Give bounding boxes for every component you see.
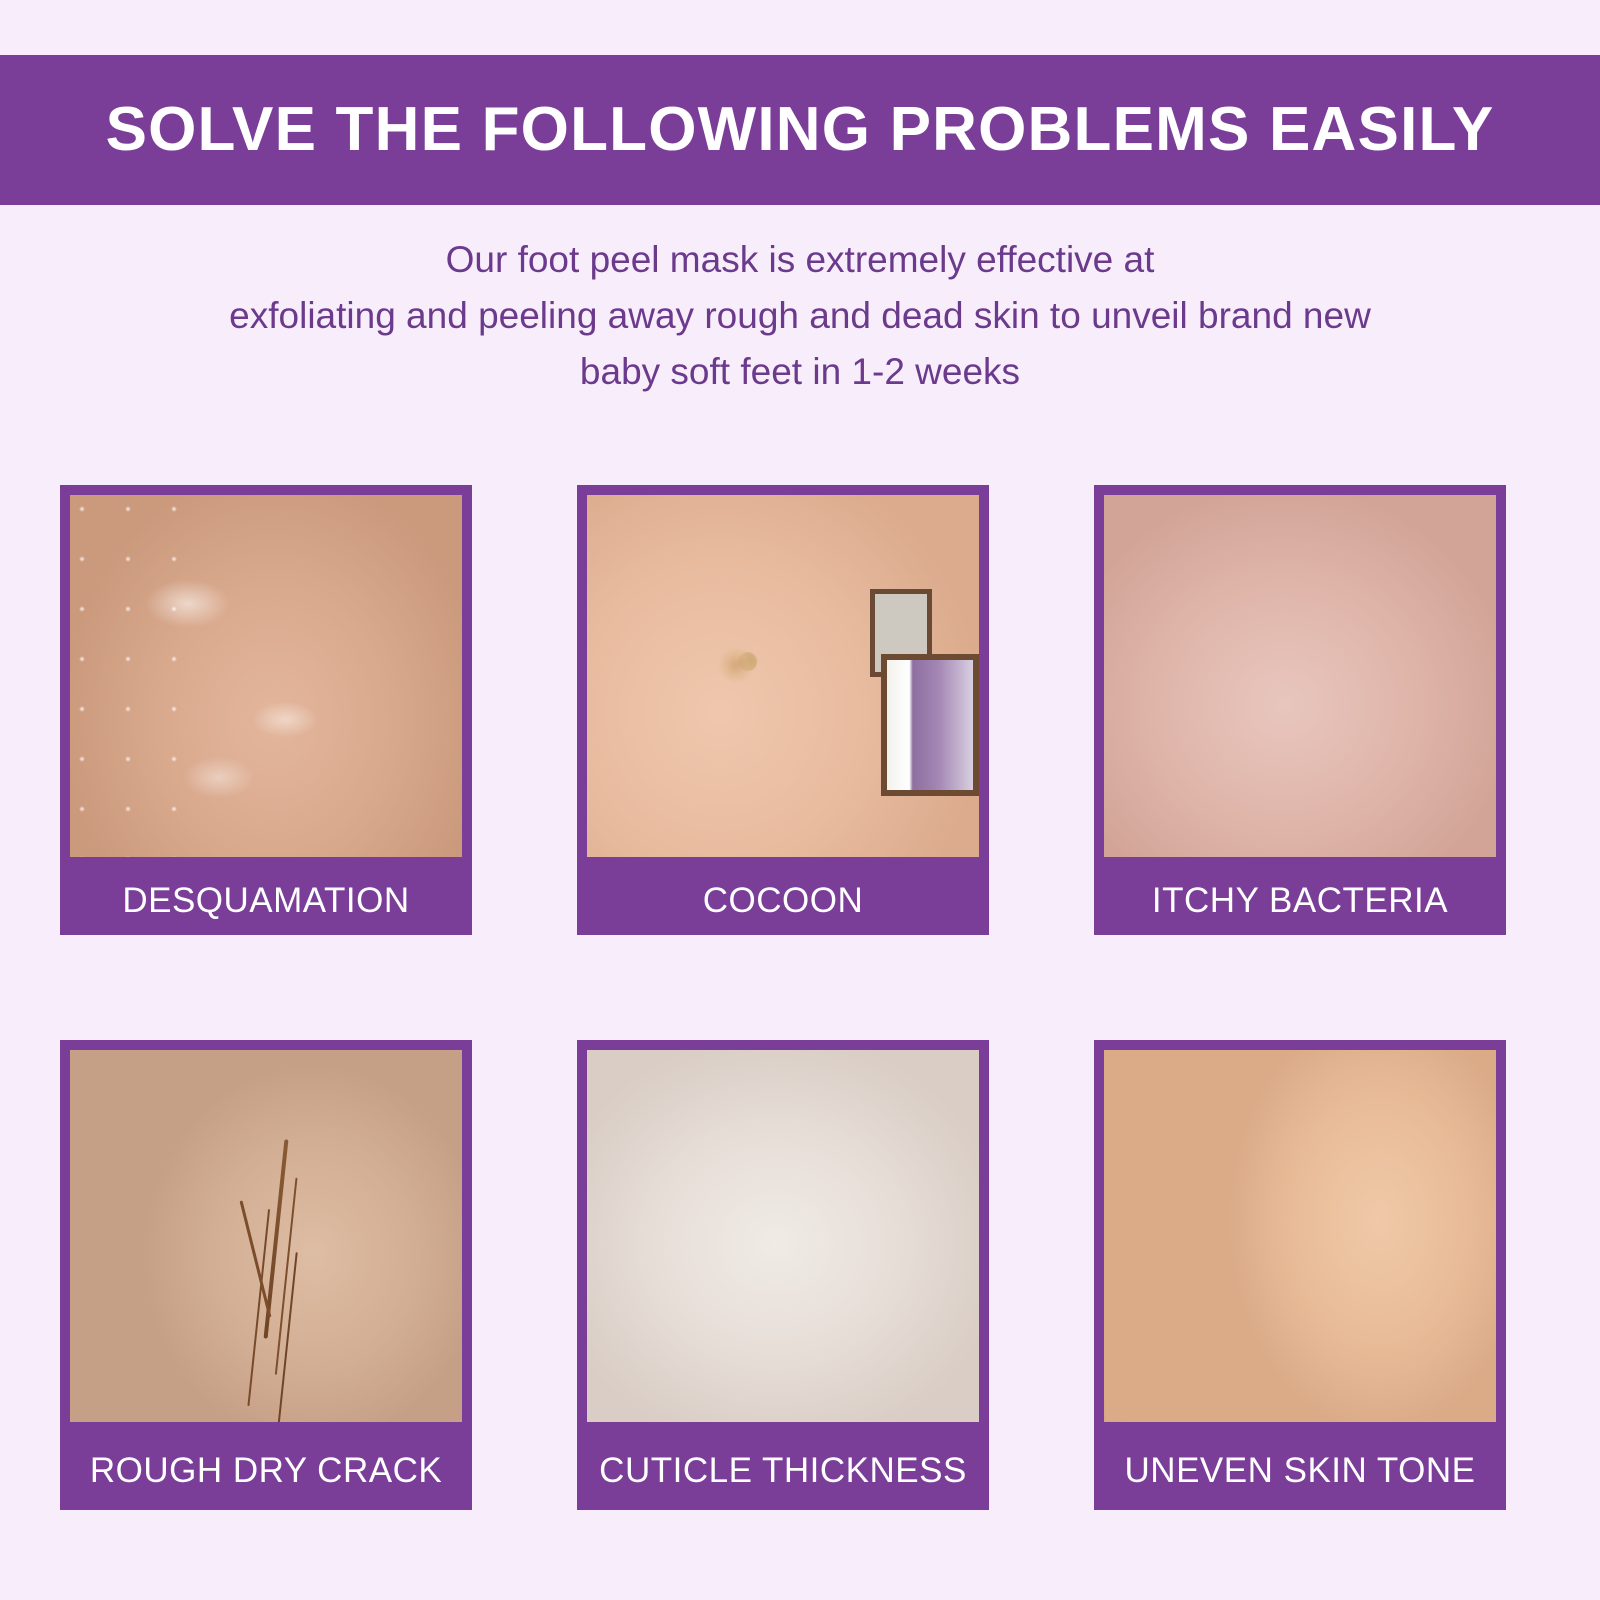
problem-card[interactable]: CUTICLE THICKNESS [577, 1040, 989, 1510]
problem-card[interactable]: DESQUAMATION [60, 485, 472, 935]
card-photo-frame [577, 1040, 989, 1432]
thick-cuticle-heel-photo [587, 1050, 979, 1422]
card-label-text: ITCHY BACTERIA [1152, 881, 1448, 921]
card-photo-frame [1094, 1040, 1506, 1432]
subtitle-paragraph: Our foot peel mask is extremely effectiv… [0, 232, 1600, 400]
problem-card[interactable]: UNEVEN SKIN TONE [1094, 1040, 1506, 1510]
flaking-peeling-foot-sole-photo [70, 495, 462, 857]
problem-card[interactable]: ROUGH DRY CRACK [60, 1040, 472, 1510]
window-decor [881, 654, 979, 796]
header-banner: SOLVE THE FOLLOWING PROBLEMS EASILY [0, 55, 1600, 205]
problem-card[interactable]: ITCHY BACTERIA [1094, 485, 1506, 935]
uneven-skin-tone-feet-photo [1104, 1050, 1496, 1422]
subtitle-line-1: Our foot peel mask is extremely effectiv… [0, 232, 1600, 288]
itchy-bacteria-foot-sole-photo [1104, 495, 1496, 857]
problem-card[interactable]: COCOON [577, 485, 989, 935]
card-label-bar: DESQUAMATION [60, 867, 472, 935]
card-photo-frame [1094, 485, 1506, 867]
card-photo-frame [60, 485, 472, 867]
callus-cocoon-foot-sole-photo [587, 495, 979, 857]
subtitle-line-2: exfoliating and peeling away rough and d… [0, 288, 1600, 344]
card-photo-frame [577, 485, 989, 867]
card-label-bar: UNEVEN SKIN TONE [1094, 1432, 1506, 1510]
card-label-text: UNEVEN SKIN TONE [1125, 1451, 1476, 1491]
subtitle-line-3: baby soft feet in 1-2 weeks [0, 344, 1600, 400]
card-label-bar: ROUGH DRY CRACK [60, 1432, 472, 1510]
card-label-bar: ITCHY BACTERIA [1094, 867, 1506, 935]
card-label-bar: COCOON [577, 867, 989, 935]
card-label-text: DESQUAMATION [122, 881, 409, 921]
card-photo-frame [60, 1040, 472, 1432]
cracked-dry-heel-photo [70, 1050, 462, 1422]
card-label-text: CUTICLE THICKNESS [599, 1451, 967, 1491]
card-label-bar: CUTICLE THICKNESS [577, 1432, 989, 1510]
card-label-text: ROUGH DRY CRACK [90, 1451, 442, 1491]
card-label-text: COCOON [703, 881, 864, 921]
problem-card-grid: DESQUAMATION COCOON ITCHY BACTERIA [60, 485, 1540, 1510]
heel-crack-line [240, 1200, 272, 1317]
page-title: SOLVE THE FOLLOWING PROBLEMS EASILY [106, 99, 1495, 161]
